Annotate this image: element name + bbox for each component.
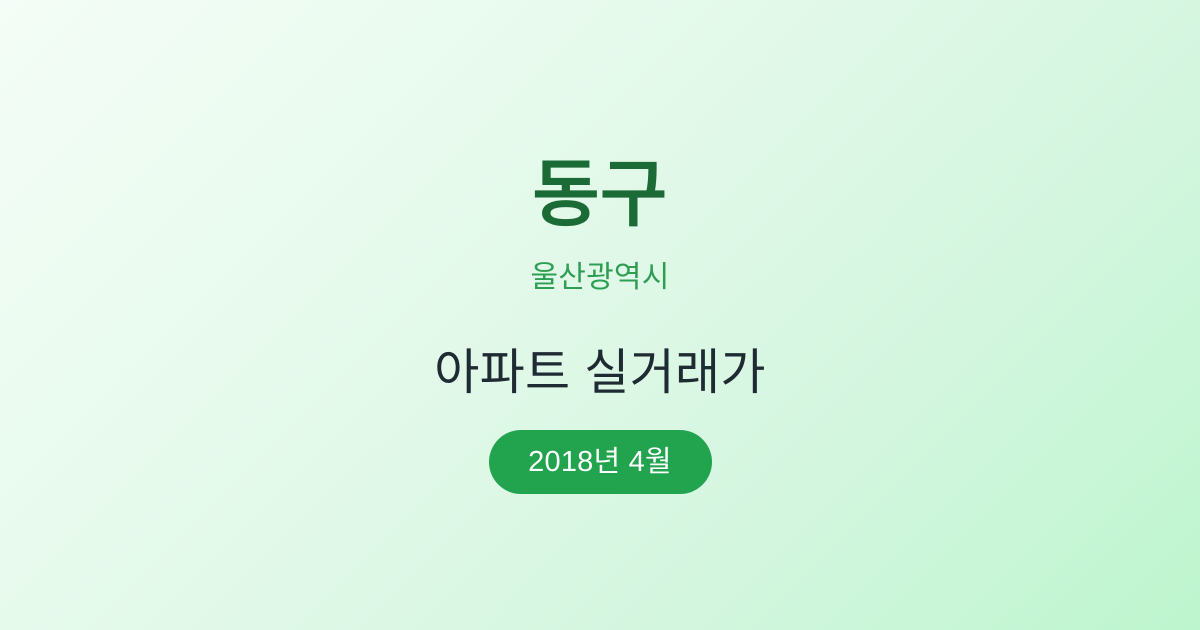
- district-name: 동구: [532, 158, 667, 231]
- og-share-card: 동구 울산광역시 아파트 실거래가 2018년 4월: [0, 0, 1200, 630]
- period-badge: 2018년 4월: [489, 430, 712, 494]
- page-title: 아파트 실거래가: [434, 349, 766, 398]
- province-name: 울산광역시: [531, 263, 670, 293]
- card-content: 동구 울산광역시 아파트 실거래가 2018년 4월: [0, 0, 1200, 494]
